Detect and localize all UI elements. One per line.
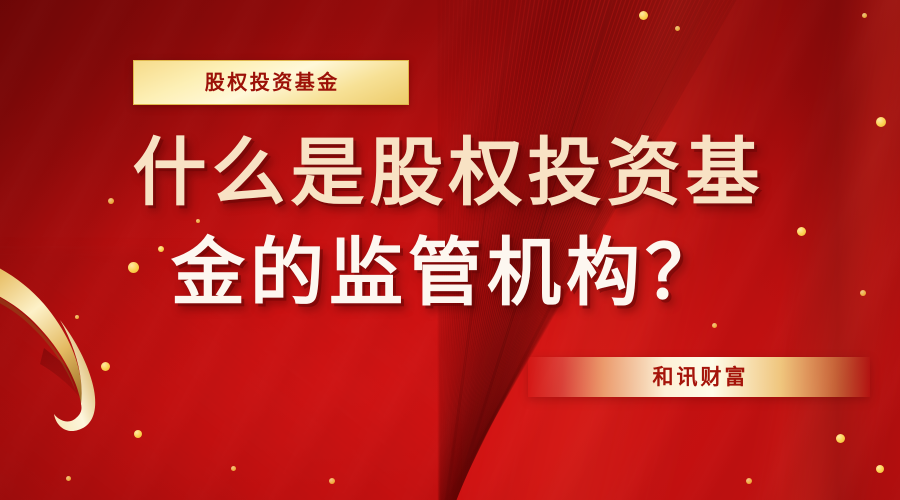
gold-dot <box>75 315 79 319</box>
gold-dot <box>675 26 680 31</box>
category-badge[interactable]: 股权投资基金 <box>133 60 409 105</box>
gold-dot <box>329 478 335 484</box>
poster-canvas: 股权投资基金 什么是股权投资基 金的监管机构？ 和讯财富 <box>0 0 900 500</box>
gold-dot <box>231 466 236 471</box>
gold-dot <box>101 362 110 371</box>
brand-badge-label: 和讯财富 <box>650 367 749 388</box>
gold-dot <box>639 11 648 20</box>
brand-badge[interactable]: 和讯财富 <box>528 357 870 397</box>
headline-line-2: 金的监管机构？ <box>0 236 900 310</box>
gold-dot <box>876 117 886 127</box>
gold-dot <box>836 434 845 443</box>
gold-dot <box>862 13 867 18</box>
headline-block: 什么是股权投资基 金的监管机构？ <box>0 136 900 310</box>
gold-dot <box>876 465 884 473</box>
gold-dot <box>712 323 717 328</box>
category-badge-label: 股权投资基金 <box>202 73 340 93</box>
gold-dot <box>66 476 71 481</box>
headline-line-1: 什么是股权投资基 <box>0 136 900 210</box>
gold-dot <box>746 478 752 484</box>
gold-dot <box>134 430 142 438</box>
